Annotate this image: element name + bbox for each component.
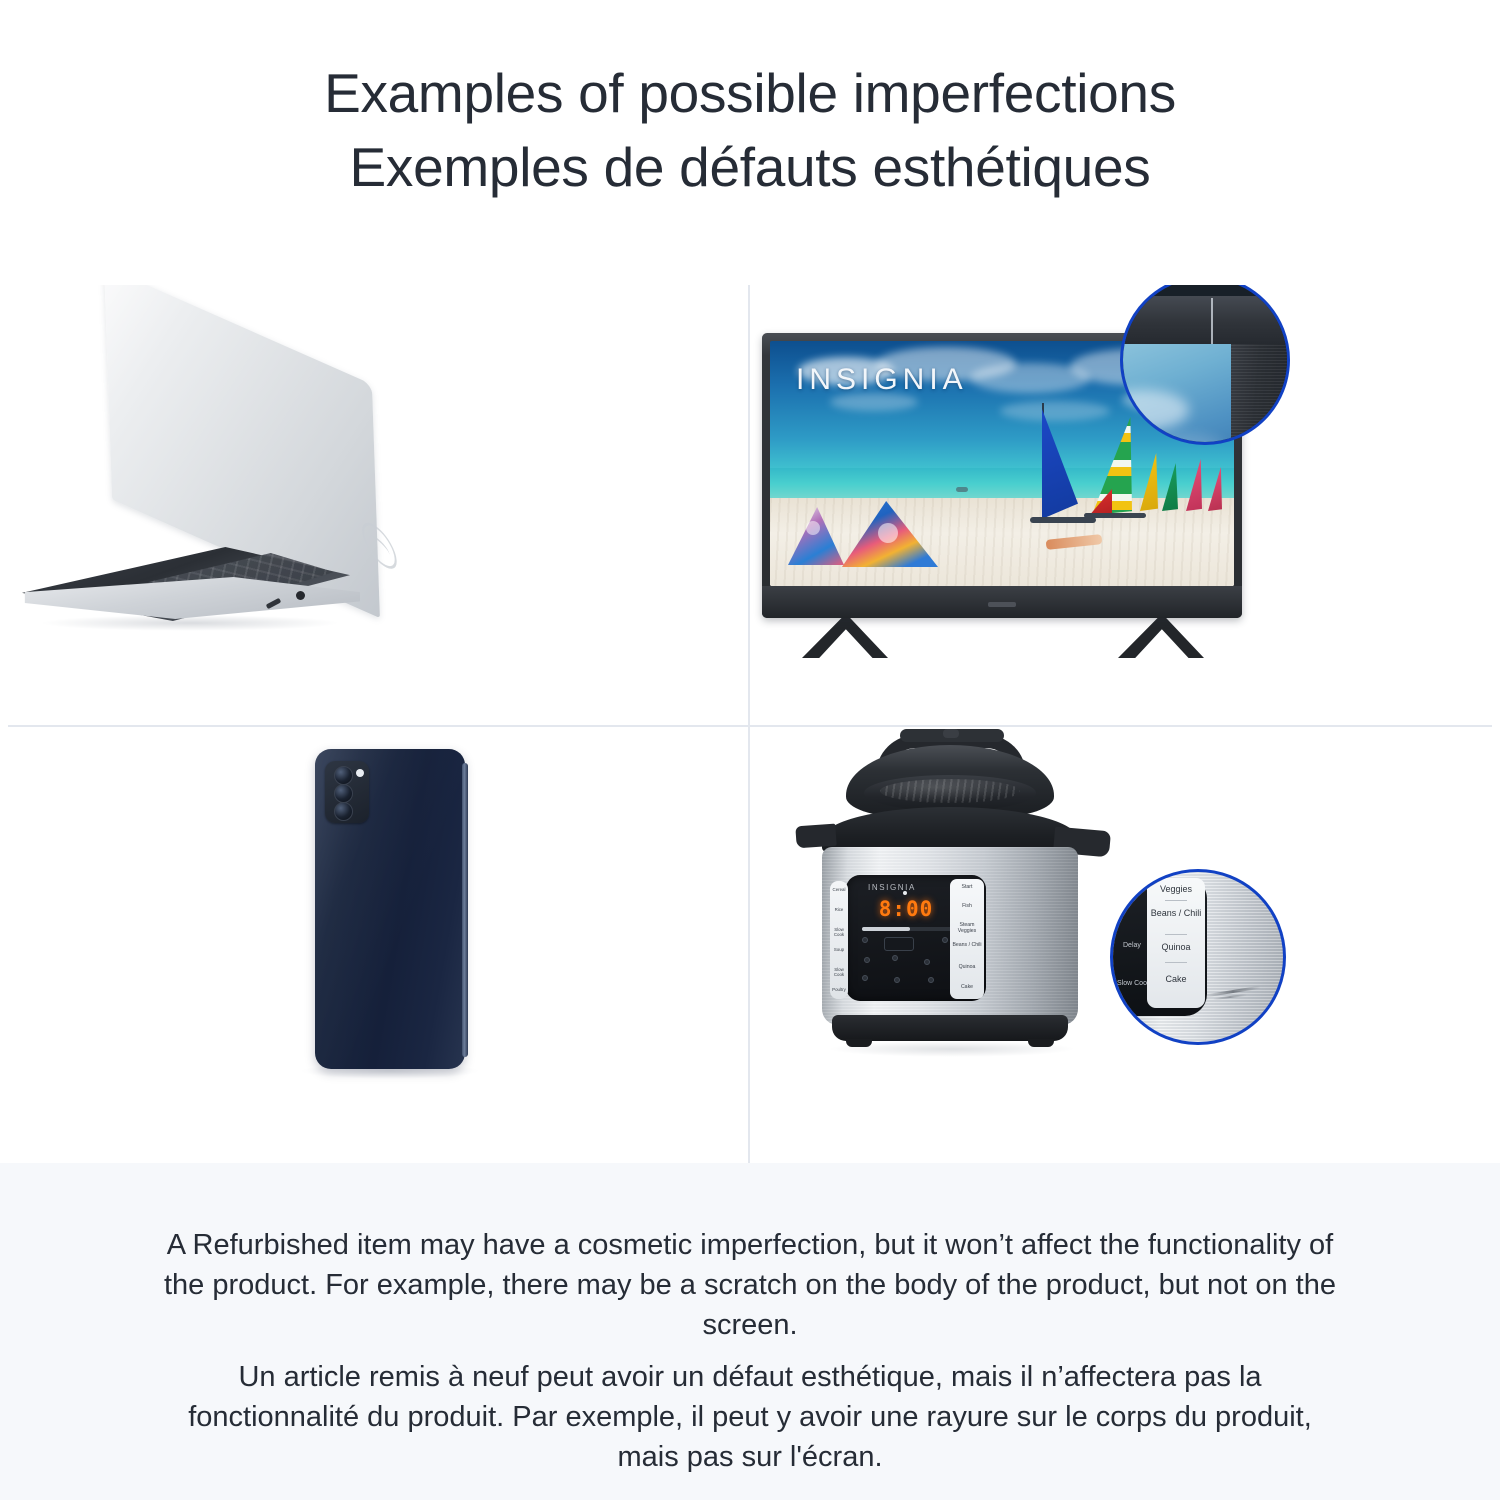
cooker-foot-left [846, 1039, 872, 1047]
title-line-english: Examples of possible imperfections [324, 62, 1176, 124]
cooker-left-label: Poultry [830, 987, 848, 992]
cooker-left-button-column[interactable]: Cereal Rice Slow Cook Soup Slow Cook Pou… [830, 881, 848, 999]
cooker-brand-label: INSIGNIA [868, 883, 916, 892]
footer-paragraph-french: Un article remis à neuf peut avoir un dé… [160, 1357, 1340, 1477]
tv-brand-logo: INSIGNIA [796, 363, 968, 397]
laptop-illustration [0, 285, 748, 725]
cooker-left-label: Soup [830, 947, 848, 952]
cooker-left-label: Slow Cook [830, 967, 848, 977]
cooker-zoom-label: Beans / Chili [1147, 908, 1205, 918]
cooker-minus-button[interactable] [862, 937, 868, 943]
cooker-zoom-separator [1165, 900, 1187, 901]
examples-grid: INSIGNIA [0, 285, 1500, 1165]
cooker-lid-texture [880, 779, 1020, 803]
cloud-shape [1120, 390, 1189, 430]
tv-bottom-bezel [762, 586, 1242, 618]
cooker-right-label: Beans / Chili [950, 942, 984, 948]
cooker-right-button-column[interactable]: Start Fish Steam Veggies Beans / Chili Q… [950, 879, 984, 999]
refurbished-imperfections-infographic: Examples of possible imperfections Exemp… [0, 0, 1500, 1500]
cooker-keypad-button[interactable] [924, 959, 930, 965]
example-cell-tv: INSIGNIA [750, 285, 1498, 725]
cooker-zoom-label: Veggies [1147, 884, 1205, 894]
cooker-right-label: Steam Veggies [950, 922, 984, 934]
phone-body [315, 749, 465, 1069]
cooker-status-dot-icon [903, 891, 907, 895]
tv-illustration: INSIGNIA [750, 285, 1498, 725]
cooker-control-panel: INSIGNIA 8:00 Cereal Rice [846, 875, 986, 1001]
cooker-zoom-panel-label: Slow Cook [1117, 980, 1150, 987]
cooker-progress-fill [862, 927, 910, 931]
footer-paragraph-english: A Refurbished item may have a cosmetic i… [160, 1225, 1340, 1345]
cooker-plus-button[interactable] [942, 937, 948, 943]
cooker-right-label: Fish [950, 903, 984, 909]
cooker-base [832, 1015, 1068, 1041]
example-cell-pressure-cooker: INSIGNIA 8:00 Cereal Rice [750, 727, 1498, 1167]
magnifier-circle-tv [1120, 285, 1290, 445]
phone-camera-module-icon [325, 761, 369, 823]
dell-logo-icon [361, 513, 398, 578]
camera-lens-icon [334, 766, 353, 785]
page-title: Examples of possible imperfections Exemp… [0, 56, 1500, 204]
example-cell-laptop [0, 285, 748, 725]
camera-lens-icon [334, 784, 353, 803]
sand-texture [770, 498, 1234, 586]
cooker-zoom-button-column[interactable]: Veggies Beans / Chili Quinoa Cake [1147, 878, 1205, 1008]
cooker-left-label: Cereal [830, 887, 848, 892]
cooker-display-value: 8:00 [871, 897, 941, 921]
cooker-steam-valve-icon [943, 729, 959, 738]
tv-led-indicator-icon [988, 602, 1016, 607]
hull-shape [1084, 513, 1146, 518]
pressure-cooker-illustration: INSIGNIA 8:00 Cereal Rice [750, 727, 1498, 1167]
laptop-audio-port-icon [296, 591, 305, 600]
cooker-zoom-separator [1165, 962, 1187, 963]
cooker-right-label: Start [950, 884, 984, 890]
cooker-keypad-button[interactable] [864, 957, 870, 963]
tv-zoom-bezel-top [1120, 296, 1290, 344]
cooker-keypad-button[interactable] [892, 955, 898, 961]
cooker-zoom-separator [1165, 934, 1187, 935]
cooker-right-label: Cake [950, 984, 984, 990]
cooker-progress-bar [862, 927, 960, 931]
cooker-zoom-label: Quinoa [1147, 942, 1205, 952]
footer-section: A Refurbished item may have a cosmetic i… [0, 1163, 1500, 1500]
magnifier-circle-cooker: Delay Slow Cook Veggies Beans / Chili Qu… [1110, 869, 1286, 1045]
cooker-left-label: Slow Cook [830, 927, 848, 937]
tv-zoom-screen-area [1120, 342, 1233, 445]
cooker-zoom-label: Cake [1147, 974, 1205, 984]
tent-window [878, 523, 898, 543]
cooker-left-label: Rice [830, 907, 848, 912]
tv-leg-left [802, 618, 888, 658]
cloud-shape [1000, 401, 1110, 421]
cooker-keypad-button[interactable] [862, 975, 868, 981]
tent-window [806, 521, 820, 535]
cooker-foot-right [1028, 1039, 1054, 1047]
title-line-french: Exemples de défauts esthétiques [0, 130, 1500, 204]
camera-flash-icon [356, 769, 364, 777]
camera-lens-icon [334, 802, 353, 821]
distant-boat [956, 487, 968, 492]
cooker-keypad-button[interactable] [928, 977, 934, 983]
cooker-right-label: Quinoa [950, 964, 984, 970]
sail-blue [1042, 409, 1078, 519]
phone-illustration [0, 727, 748, 1167]
example-cell-phone [0, 727, 748, 1167]
cooker-keypad-button[interactable] [894, 977, 900, 983]
cooker-center-button[interactable] [884, 937, 914, 951]
tv-leg-right [1118, 618, 1204, 658]
cooker-handle-left [795, 824, 836, 849]
tv-bezel-imperfection-mark [1211, 298, 1213, 344]
cooker-zoom-panel-label: Delay [1123, 942, 1141, 949]
